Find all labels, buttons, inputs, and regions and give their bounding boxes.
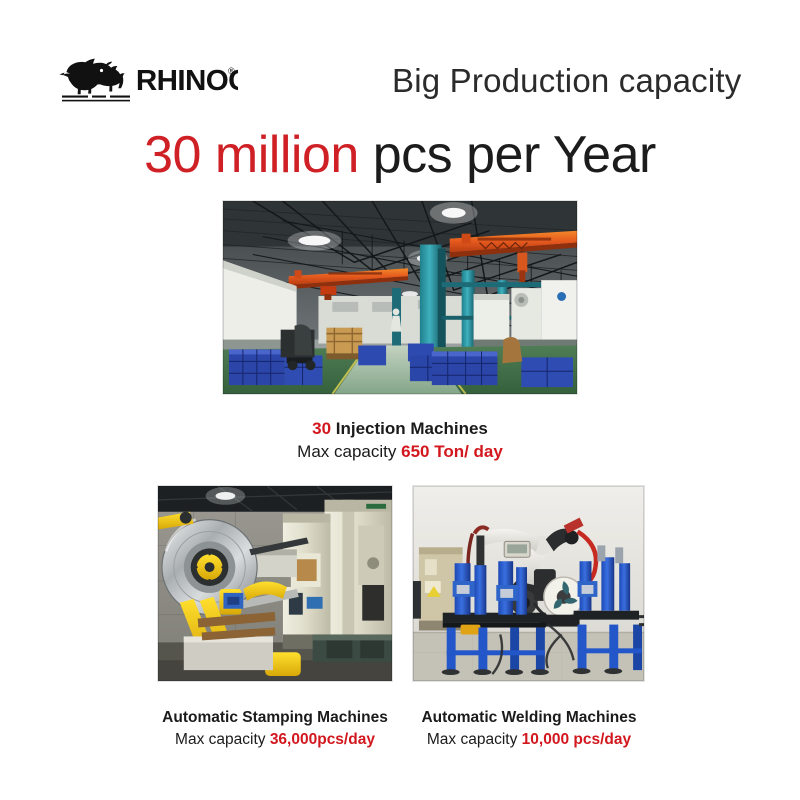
rhino-logo-svg: RHINOCEROS ® bbox=[38, 50, 238, 104]
registered-mark: ® bbox=[228, 66, 235, 76]
die-table bbox=[313, 634, 392, 662]
roller-block bbox=[223, 593, 243, 609]
capacity-headline: 30 million pcs per Year bbox=[0, 124, 800, 186]
pallet-stack bbox=[326, 328, 362, 360]
factory-interior-photo bbox=[222, 200, 578, 395]
motion-lines bbox=[62, 96, 130, 102]
wordmark-text: RHINOCEROS bbox=[136, 64, 238, 97]
welding-machine-label: Automatic Welding Machines bbox=[398, 707, 660, 729]
press-frame bbox=[325, 500, 392, 656]
welding-caption: Automatic Welding Machines Max capacity … bbox=[398, 707, 660, 751]
stamping-caption: Automatic Stamping Machines Max capacity… bbox=[141, 707, 409, 751]
injection-machine-label: Injection Machines bbox=[331, 419, 488, 438]
welding-capacity-value: 10,000 pcs/day bbox=[522, 731, 631, 748]
feeder-table bbox=[255, 549, 297, 587]
welding-capacity-label: Max capacity bbox=[427, 731, 522, 748]
factory-capacity-label: Max capacity bbox=[297, 442, 401, 461]
injection-machine-count: 30 bbox=[312, 419, 331, 438]
rhinoceros-logo: RHINOCEROS ® bbox=[38, 50, 238, 104]
page-title: Big Production capacity bbox=[392, 58, 772, 104]
stamping-machine-label: Automatic Stamping Machines bbox=[141, 707, 409, 729]
stamping-capacity-label: Max capacity bbox=[175, 731, 270, 748]
automatic-welding-robot-cell-photo bbox=[412, 485, 645, 682]
factory-caption: 30 Injection Machines Max capacity 650 T… bbox=[200, 417, 600, 463]
factory-capacity-value: 650 Ton/ day bbox=[401, 442, 503, 461]
headline-highlight: 30 million bbox=[144, 126, 359, 184]
automatic-stamping-machine-photo bbox=[157, 485, 393, 682]
stamping-capacity-value: 36,000pcs/day bbox=[270, 731, 375, 748]
rhino-icon bbox=[60, 59, 125, 95]
poster-header: RHINOCEROS ® Big Production capacity bbox=[0, 0, 800, 120]
headline-rest: pcs per Year bbox=[359, 126, 656, 184]
